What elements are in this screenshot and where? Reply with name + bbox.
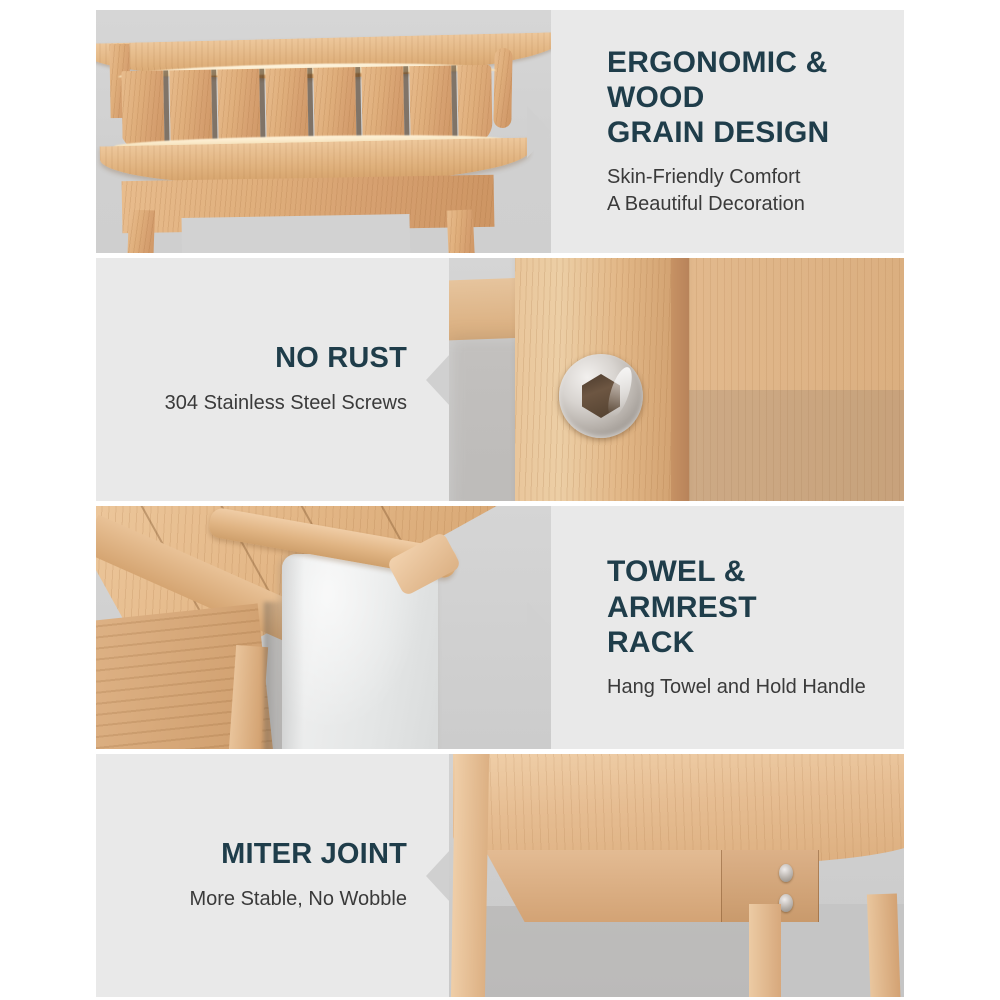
feature-heading: TOWEL & ARMREST RACK [607,554,886,659]
bench-leg-center [749,904,781,997]
bench-leg-right [867,894,901,997]
feature-subtext-line-1: Skin-Friendly Comfort [607,166,800,188]
photo-art-miter-joint [449,754,904,997]
feature-photo-ergonomic [96,10,551,253]
feature-panel-ergonomic-wood-grain: ERGONOMIC & WOOD GRAIN DESIGN Skin-Frien… [96,10,904,253]
feature-copy-ergonomic: ERGONOMIC & WOOD GRAIN DESIGN Skin-Frien… [551,10,904,253]
stainless-steel-screw-icon [559,354,643,438]
feature-subtext-line-1: Hang Towel and Hold Handle [607,676,866,698]
feature-photo-miter-joint [449,754,904,997]
wooden-post-edge [671,258,689,501]
feature-panel-towel-armrest-rack: TOWEL & ARMREST RACK Hang Towel and Hold… [96,506,904,749]
feature-heading: MITER JOINT [114,838,407,872]
pointer-arrow-icon [426,850,449,902]
bench-under-gap [181,214,410,253]
feature-subtext-line-1: 304 Stainless Steel Screws [165,392,407,414]
photo-art-bench-backrest [96,10,551,253]
feature-heading-line-1: MITER JOINT [221,838,407,870]
feature-copy-no-rust: NO RUST 304 Stainless Steel Screws [96,258,449,501]
bench-seat-underside [453,754,904,866]
feature-heading-line-1: NO RUST [275,342,407,374]
feature-photo-towel-rack [96,506,551,749]
pointer-arrow-icon [527,106,551,158]
feature-copy-miter-joint: MITER JOINT More Stable, No Wobble [96,754,449,997]
bench-leg-right [447,209,476,253]
feature-heading: NO RUST [114,342,407,376]
joint-screw-icon [779,864,793,882]
bench-leg-left [127,210,155,253]
feature-subtext: Skin-Friendly Comfort A Beautiful Decora… [607,164,886,218]
pointer-arrow-icon [426,354,449,406]
photo-art-towel-on-rail [96,506,551,749]
feature-subtext: Hang Towel and Hold Handle [607,674,886,701]
feature-subtext-line-2: A Beautiful Decoration [607,193,805,215]
bench-post-left [451,754,490,997]
feature-panel-miter-joint: MITER JOINT More Stable, No Wobble [96,754,904,997]
screw-highlight [603,364,636,419]
feature-copy-towel-rack: TOWEL & ARMREST RACK Hang Towel and Hold… [551,506,904,749]
feature-heading-line-2: GRAIN DESIGN [607,116,829,149]
feature-photo-no-rust [449,258,904,501]
feature-subtext-line-1: More Stable, No Wobble [189,888,407,910]
feature-heading-line-1: ERGONOMIC & WOOD [607,46,828,114]
photo-art-screw-macro [449,258,904,501]
infographic-sheet: ERGONOMIC & WOOD GRAIN DESIGN Skin-Frien… [0,0,1000,1000]
feature-heading: ERGONOMIC & WOOD GRAIN DESIGN [607,45,886,150]
feature-subtext: More Stable, No Wobble [114,886,407,913]
feature-panel-no-rust: NO RUST 304 Stainless Steel Screws [96,258,904,501]
feature-heading-line-2: RACK [607,626,694,659]
pointer-arrow-icon [527,602,551,654]
feature-subtext: 304 Stainless Steel Screws [114,390,407,417]
feature-heading-line-1: TOWEL & ARMREST [607,555,757,623]
backrest-post-right [493,48,512,128]
joint-screw-icon [779,894,793,912]
towel-fold [282,554,304,749]
background-shadow [689,390,904,501]
